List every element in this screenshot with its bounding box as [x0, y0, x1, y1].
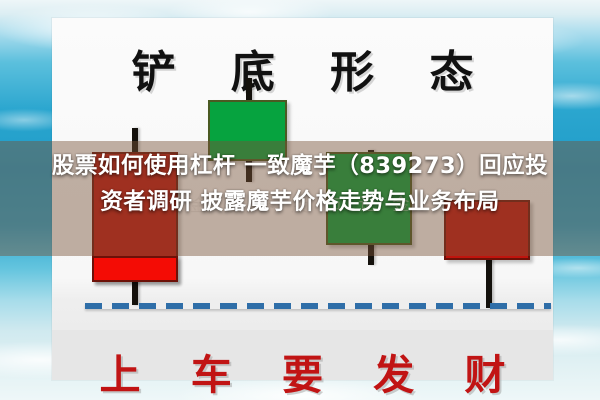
panel-title: 铲 底 形 态: [52, 36, 553, 100]
caption-line-2: 资者调研 披露魔芋价格走势与业务布局: [0, 184, 600, 220]
screenshot-root: 铲 底 形 态 上 车 要 发 财 金 融 界 股 市 论 金 股票如何使用杠杆…: [0, 0, 600, 400]
caption-line-1: 股票如何使用杠杆 一致魔芋（839273）回应投: [0, 148, 600, 184]
candle-1-body-highlight: [92, 256, 178, 282]
panel-footer-text: 上 车 要 发 财: [52, 341, 553, 400]
caption-headline: 股票如何使用杠杆 一致魔芋（839273）回应投 资者调研 披露魔芋价格走势与业…: [0, 148, 600, 220]
support-level-dashed-line: [85, 303, 551, 309]
